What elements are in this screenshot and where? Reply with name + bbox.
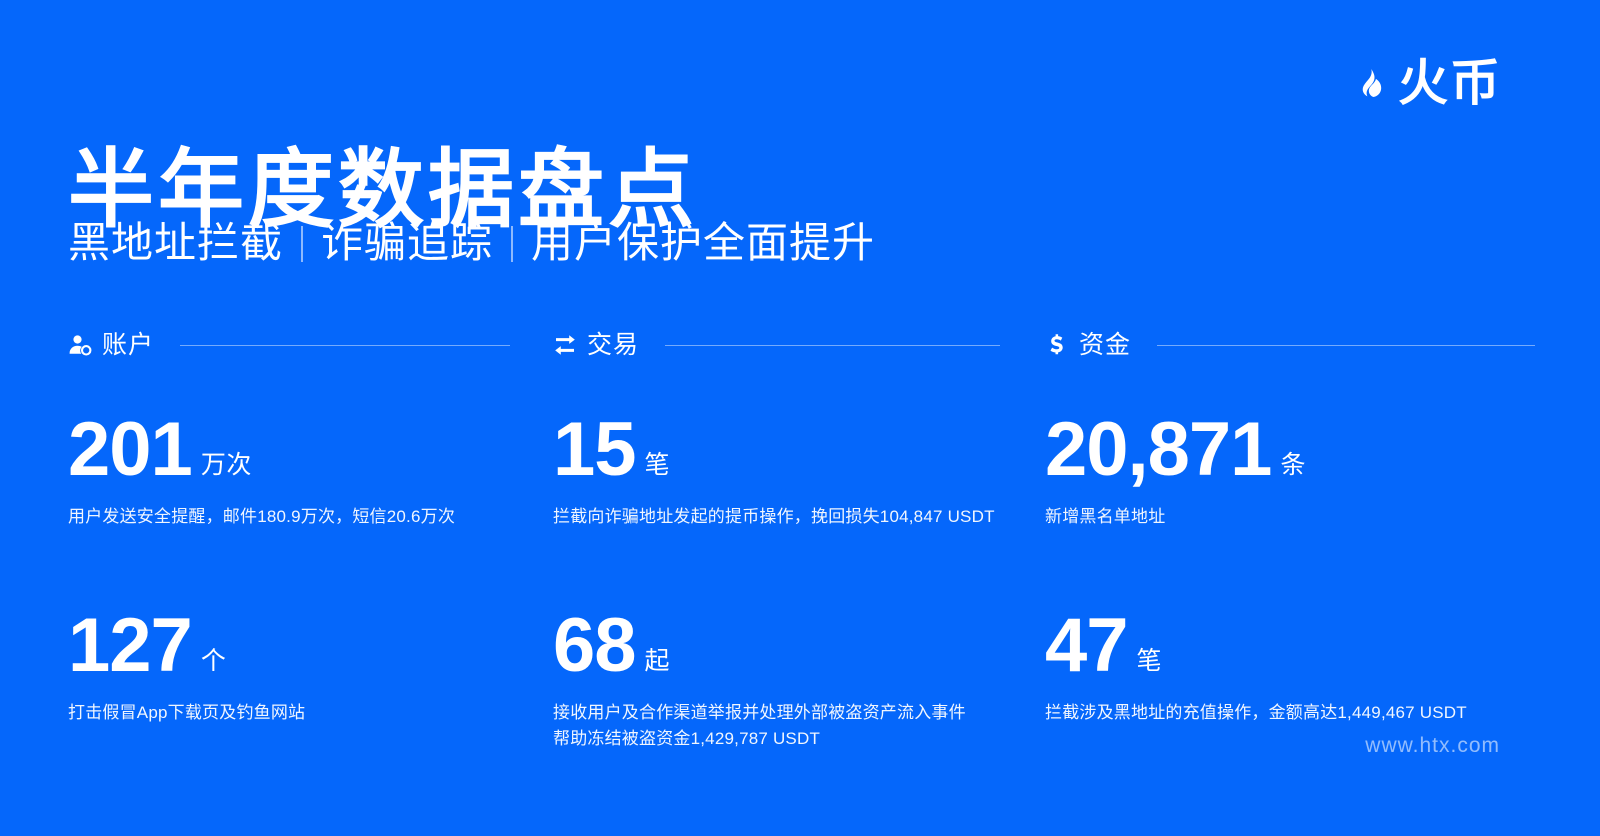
stat-block: 201 万次 用户发送安全提醒，邮件180.9万次，短信20.6万次 xyxy=(68,360,545,531)
stat-unit: 起 xyxy=(645,649,671,674)
exchange-arrows-icon xyxy=(553,333,577,357)
subtitle-divider xyxy=(301,226,303,262)
stat-unit: 条 xyxy=(1280,453,1306,478)
stat-number: 201 xyxy=(68,414,192,486)
column-rule xyxy=(180,345,510,346)
subtitle-part-2: 诈骗追踪 xyxy=(321,218,493,268)
stat-description: 新增黑名单地址 xyxy=(1045,504,1600,530)
subtitle-divider xyxy=(511,226,513,262)
stat-description: 打击假冒App下载页及钓鱼网站 xyxy=(68,700,545,726)
stat-value-row: 47 笔 xyxy=(1045,610,1600,682)
page-subtitle: 黑地址拦截 诈骗追踪 用户保护全面提升 xyxy=(68,218,875,268)
column-header-funds: 资金 xyxy=(1045,330,1600,360)
column-rule xyxy=(665,345,1000,346)
stat-block: 127 个 打击假冒App下载页及钓鱼网站 xyxy=(68,548,545,727)
infographic-poster: 火币 半年度数据盘点 黑地址拦截 诈骗追踪 用户保护全面提升 账户 xyxy=(0,0,1600,836)
stat-block: 47 笔 拦截涉及黑地址的充值操作，金额高达1,449,467 USDT xyxy=(1045,548,1600,727)
dollar-sign-icon xyxy=(1045,333,1069,357)
stat-description: 用户发送安全提醒，邮件180.9万次，短信20.6万次 xyxy=(68,504,545,530)
stat-unit: 个 xyxy=(201,649,227,674)
stat-number: 68 xyxy=(553,610,636,682)
stat-description: 拦截向诈骗地址发起的提币操作，挽回损失104,847 USDT xyxy=(553,504,1035,530)
stat-block: 20,871 条 新增黑名单地址 xyxy=(1045,360,1600,531)
subtitle-part-3: 用户保护全面提升 xyxy=(531,218,875,268)
stat-value-row: 15 笔 xyxy=(553,414,1035,486)
stat-unit: 笔 xyxy=(645,453,671,478)
column-title-trading: 交易 xyxy=(587,333,639,358)
stats-column-trading: 交易 15 笔 拦截向诈骗地址发起的提币操作，挽回损失104,847 USDT … xyxy=(545,330,1035,769)
stat-block: 15 笔 拦截向诈骗地址发起的提币操作，挽回损失104,847 USDT xyxy=(553,360,1035,531)
column-rule xyxy=(1157,345,1535,346)
stat-description: 拦截涉及黑地址的充值操作，金额高达1,449,467 USDT xyxy=(1045,700,1600,726)
stat-unit: 笔 xyxy=(1137,649,1163,674)
stat-number: 20,871 xyxy=(1045,414,1271,486)
stats-column-funds: 资金 20,871 条 新增黑名单地址 47 笔 拦截涉及黑地址的充值操作，金额… xyxy=(1035,330,1600,769)
stat-value-row: 127 个 xyxy=(68,610,545,682)
stat-block: 68 起 接收用户及合作渠道举报并处理外部被盗资产流入事件 帮助冻结被盗资金1,… xyxy=(553,548,1035,753)
site-url: www.htx.com xyxy=(1365,734,1500,758)
subtitle-part-1: 黑地址拦截 xyxy=(68,218,283,268)
stat-value-row: 20,871 条 xyxy=(1045,414,1600,486)
stat-number: 47 xyxy=(1045,610,1128,682)
stat-number: 15 xyxy=(553,414,636,486)
stat-unit: 万次 xyxy=(201,453,252,478)
stat-number: 127 xyxy=(68,610,192,682)
stat-value-row: 201 万次 xyxy=(68,414,545,486)
brand-name: 火币 xyxy=(1398,58,1502,108)
column-header-trading: 交易 xyxy=(553,330,1035,360)
column-title-account: 账户 xyxy=(102,333,154,358)
stat-description: 接收用户及合作渠道举报并处理外部被盗资产流入事件 帮助冻结被盗资金1,429,7… xyxy=(553,700,1035,753)
user-account-icon xyxy=(68,333,92,357)
column-title-funds: 资金 xyxy=(1079,333,1131,358)
column-header-account: 账户 xyxy=(68,330,545,360)
stat-value-row: 68 起 xyxy=(553,610,1035,682)
brand-logo: 火币 xyxy=(1360,58,1502,108)
stats-column-account: 账户 201 万次 用户发送安全提醒，邮件180.9万次，短信20.6万次 12… xyxy=(0,330,545,769)
huobi-flame-icon xyxy=(1360,71,1384,95)
stats-columns: 账户 201 万次 用户发送安全提醒，邮件180.9万次，短信20.6万次 12… xyxy=(0,330,1600,769)
